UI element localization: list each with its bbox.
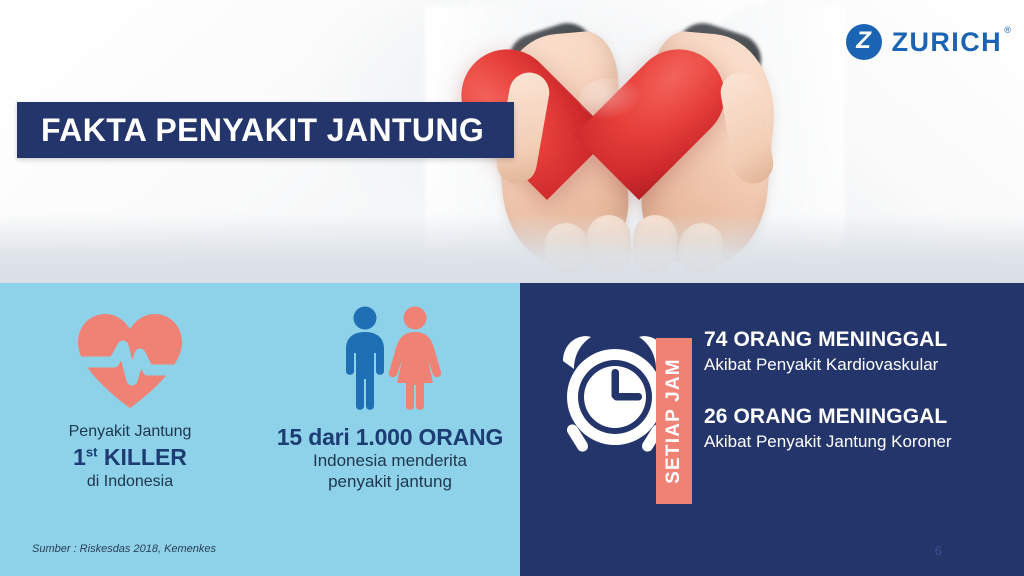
red-heart-icon xyxy=(549,52,725,220)
heart-highlight xyxy=(579,78,641,120)
fact-headline: 74 ORANG MENINGGAL xyxy=(704,327,1014,352)
slide-title-bar: FAKTA PENYAKIT JANTUNG xyxy=(17,102,514,158)
fact-item: 26 ORANG MENINGGAL Akibat Penyakit Jantu… xyxy=(704,404,1014,453)
stat-big-superscript: st xyxy=(86,444,98,459)
man-woman-icon xyxy=(335,305,445,413)
stats-row: Penyakit Jantung 1st KILLER di Indonesia xyxy=(0,283,520,516)
page-title: FAKTA PENYAKIT JANTUNG xyxy=(41,112,484,149)
stat-headline: 15 dari 1.000 ORANG xyxy=(277,423,503,451)
zurich-logo: Z ZURICH® xyxy=(846,24,1002,60)
zurich-z-mark-icon: Z xyxy=(846,24,882,60)
stat-line-top: Penyakit Jantung xyxy=(69,422,192,442)
stat-subline-2: penyakit jantung xyxy=(277,472,503,493)
fact-subline: Akibat Penyakit Jantung Koroner xyxy=(704,431,1014,453)
fact-headline: 26 ORANG MENINGGAL xyxy=(704,404,1014,429)
hourly-facts-list: 74 ORANG MENINGGAL Akibat Penyakit Kardi… xyxy=(704,327,1014,454)
fact-item: 74 ORANG MENINGGAL Akibat Penyakit Kardi… xyxy=(704,327,1014,376)
stat-line-big: 1st KILLER xyxy=(69,443,192,471)
registered-trademark-icon: ® xyxy=(1004,25,1011,35)
slide-root: Z ZURICH® FAKTA PENYAKIT JANTUNG Penyaki… xyxy=(0,0,1024,576)
heart-pulse-icon xyxy=(74,310,186,410)
page-number: 6 xyxy=(935,543,942,558)
stat-line-bottom: di Indonesia xyxy=(69,472,192,492)
setiap-jam-ribbon: SETIAP JAM xyxy=(656,338,692,504)
stats-panel-left: Penyakit Jantung 1st KILLER di Indonesia xyxy=(0,283,520,576)
ribbon-label: SETIAP JAM xyxy=(663,358,685,484)
source-note: Sumber : Riskesdas 2018, Kemenkes xyxy=(32,543,216,555)
hourly-deaths-panel: SETIAP JAM 74 ORANG MENINGGAL Akibat Pen… xyxy=(520,283,1024,576)
stat-item-prevalence: 15 dari 1.000 ORANG Indonesia menderita … xyxy=(260,283,520,516)
fact-subline: Akibat Penyakit Kardiovaskular xyxy=(704,354,1014,376)
stat-big-prefix: 1 xyxy=(73,444,86,470)
male-figure-icon xyxy=(346,307,384,410)
stat-caption-prevalence: 15 dari 1.000 ORANG Indonesia menderita … xyxy=(277,423,503,493)
stat-caption-heart: Penyakit Jantung 1st KILLER di Indonesia xyxy=(69,422,192,491)
female-figure-icon xyxy=(389,307,441,410)
stat-item-heart-killer: Penyakit Jantung 1st KILLER di Indonesia xyxy=(0,283,260,516)
zurich-wordmark: ZURICH® xyxy=(892,27,1002,58)
stat-big-word: KILLER xyxy=(104,444,187,470)
hero-foreground-gradient xyxy=(0,213,1024,283)
zurich-logo-letter: Z xyxy=(856,29,871,53)
zurich-wordmark-text: ZURICH xyxy=(892,27,1002,57)
stat-subline-1: Indonesia menderita xyxy=(277,451,503,472)
